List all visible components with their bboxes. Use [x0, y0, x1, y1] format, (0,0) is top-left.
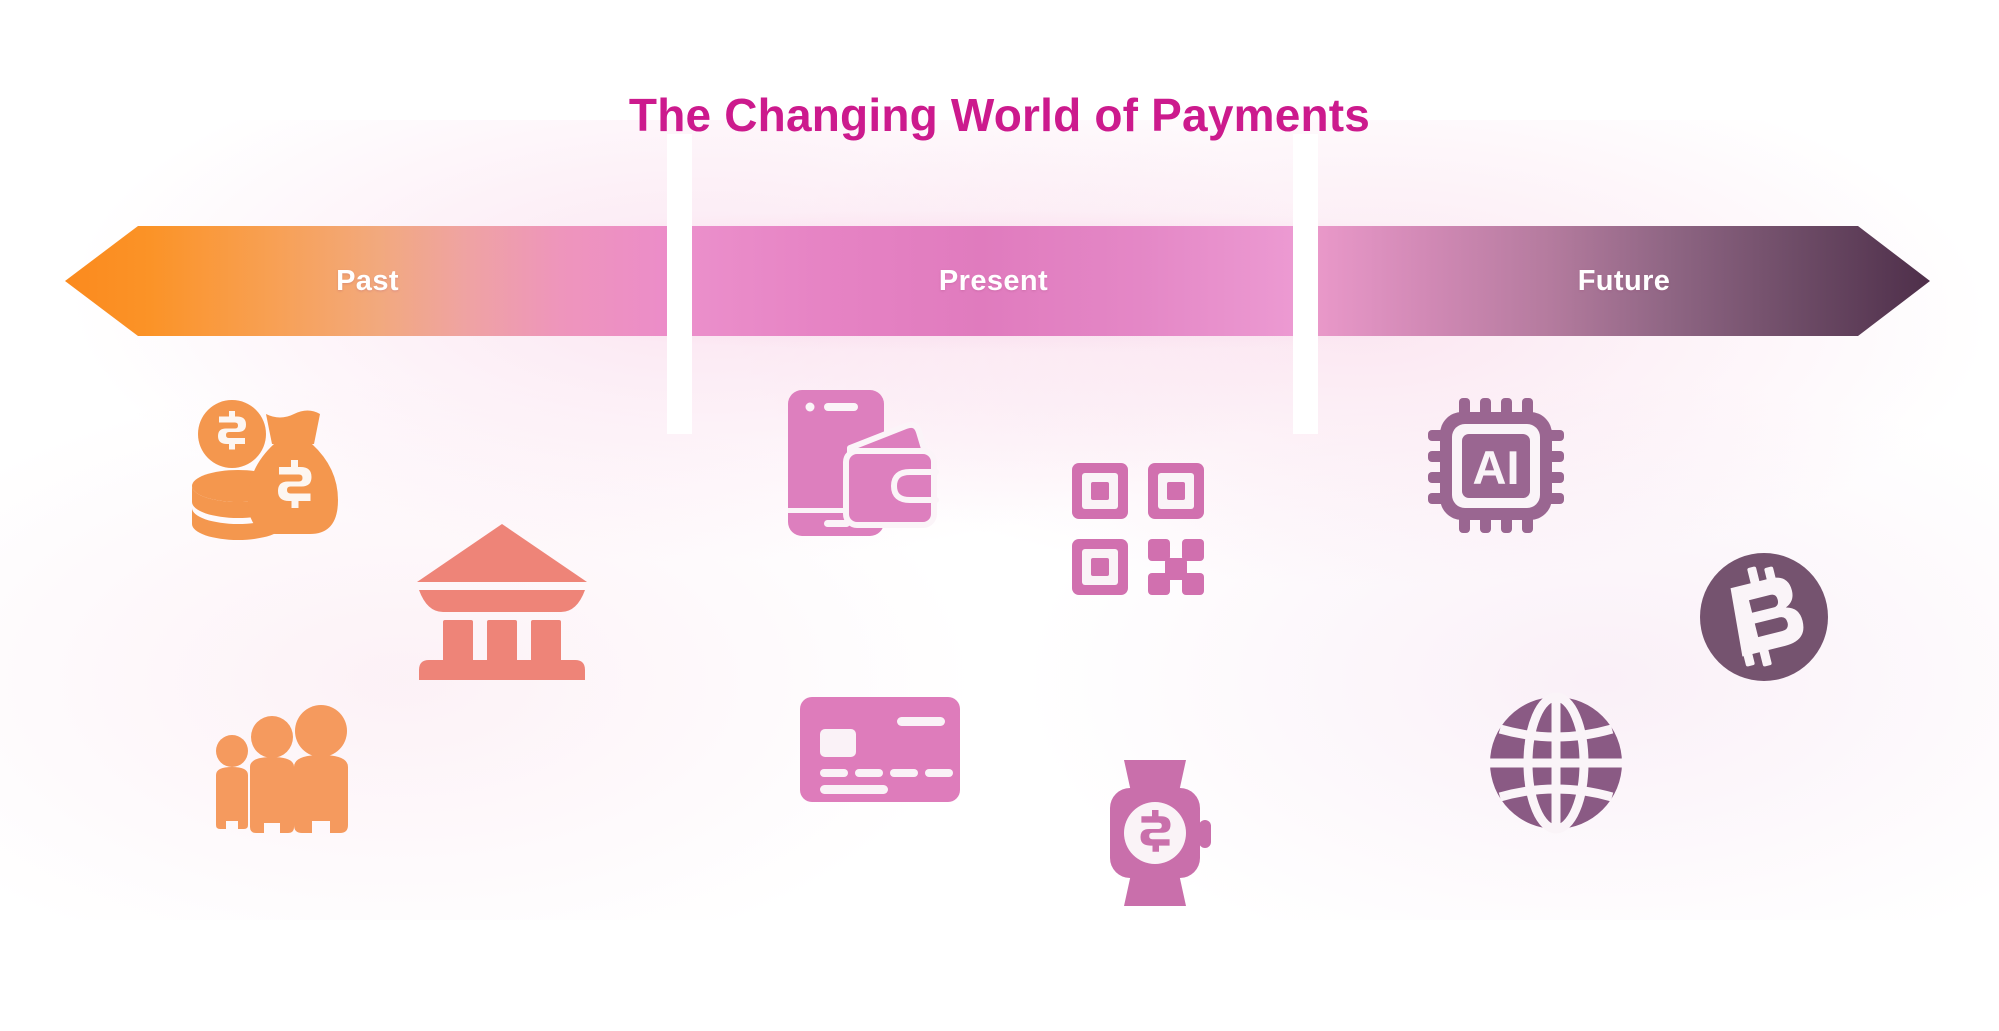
bank-building-icon: [415, 520, 589, 675]
globe-icon: [1490, 697, 1622, 829]
page-title: The Changing World of Payments: [0, 88, 1999, 142]
cash-coins-money-bag-icon: [190, 398, 340, 543]
credit-card-icon: [800, 697, 960, 802]
timeline-segment-past-label: Past: [336, 265, 399, 298]
mobile-wallet-icon: [786, 388, 941, 538]
timeline-banner: Past Present Future: [0, 226, 1999, 336]
timeline-segment-future-label: Future: [1578, 265, 1671, 298]
timeline-segment-present-label: Present: [939, 265, 1048, 298]
timeline-segment-present[interactable]: Present: [692, 226, 1295, 336]
infographic-canvas: The Changing World of Payments Past Pres…: [0, 0, 1999, 1031]
people-group-icon: [210, 717, 355, 837]
ai-chip-icon: AI: [1428, 398, 1568, 533]
smartwatch-payment-icon: [1104, 758, 1214, 908]
timeline-segment-past[interactable]: Past: [65, 226, 670, 336]
timeline-segment-future[interactable]: Future: [1318, 226, 1930, 336]
bitcoin-coin-icon: [1700, 553, 1828, 681]
ai-chip-text: AI: [1473, 441, 1520, 494]
icons-layer: AI: [0, 360, 1999, 1020]
qr-code-icon: [1072, 463, 1204, 595]
